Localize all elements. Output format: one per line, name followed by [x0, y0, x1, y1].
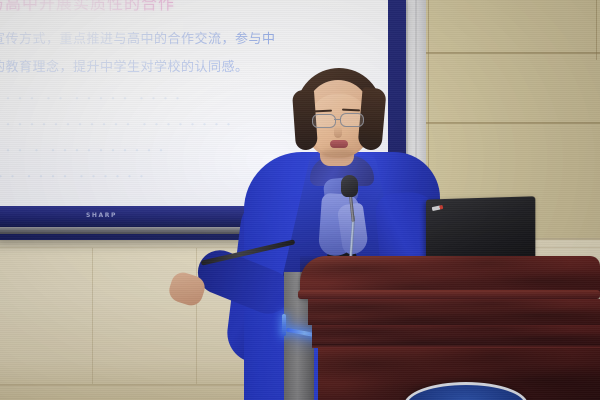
wall-seam-upper [404, 52, 600, 54]
wall-seam-vertical-b [596, 0, 597, 60]
chin-shadow [320, 150, 356, 158]
podium-top-edge [298, 290, 600, 299]
mouth [330, 140, 348, 148]
podium-lectern [284, 256, 600, 400]
slide-faint-line-4: ・・・ ・ ・・ ・・・・ ・・・・・・ [0, 168, 148, 184]
podium-led-accent-vertical [282, 314, 286, 336]
sharp-brand-label: SHARP [86, 212, 117, 219]
dado-seam-2 [196, 248, 197, 384]
eyeglasses-bridge [334, 119, 341, 120]
slide-body-line-2: 学校先进的教育理念，提升中学生对学校的认同感。 [0, 56, 249, 75]
presentation-photo: 地，与高中开展实质性的合作 向为主的宣传方式，重点推进与高中的合作交流，参与中 … [0, 0, 600, 400]
nose [334, 126, 342, 138]
slide-title-line: 地，与高中开展实质性的合作 [0, 0, 175, 14]
eyeglasses-lens-right [340, 113, 364, 127]
microphone-head-icon [341, 175, 358, 197]
dado-seam-1 [92, 248, 93, 384]
slide-faint-line-1: ・・・ ・・・・・ ・・ ・・・・・ ・・・・ [0, 90, 184, 106]
slide-faint-line-2: ・・・・・ ・・・・・・・・・・・ ・・・・・・・・ [0, 116, 235, 132]
wood-grain-mid [308, 299, 600, 325]
slide-body-line-1: 向为主的宣传方式，重点推进与高中的合作交流，参与中 [0, 28, 276, 47]
eyeglasses-lens-left [312, 114, 336, 128]
slide-faint-line-3: ・・・・ ・・・ ・ ・・・・・・・・・・ [0, 142, 168, 158]
podium-mid-band [308, 299, 600, 325]
